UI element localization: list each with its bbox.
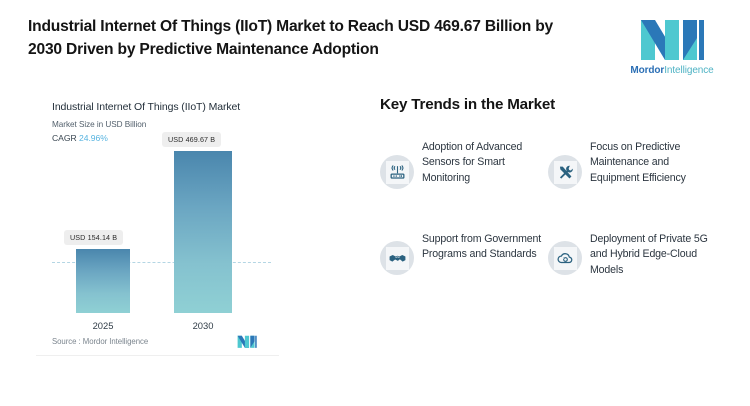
x-axis-tick-2030: 2030 xyxy=(174,320,232,331)
market-size-chart-card: Industrial Internet Of Things (IIoT) Mar… xyxy=(36,88,279,356)
key-trends-grid: Adoption of Advanced Sensors for Smart M… xyxy=(380,139,730,278)
cloud-sync-icon xyxy=(554,247,577,270)
trend-icon-badge xyxy=(548,155,582,189)
handshake-icon xyxy=(386,247,409,270)
brand-logo-text: MordorIntelligence xyxy=(630,65,713,76)
cagr-label: CAGR xyxy=(52,133,77,143)
bar-value-label-2030: USD 469.67 B xyxy=(162,132,221,147)
trend-item-sensors: Adoption of Advanced Sensors for Smart M… xyxy=(380,139,548,231)
wireless-sensor-icon xyxy=(386,161,409,184)
mordor-intelligence-mark-icon xyxy=(639,18,705,60)
key-trends-title: Key Trends in the Market xyxy=(380,96,730,113)
cagr-value: 24.96% xyxy=(79,133,108,143)
bar-chart-plot: USD 154.14 B USD 469.67 B 2025 2030 xyxy=(52,149,265,329)
trend-text: Deployment of Private 5G and Hybrid Edge… xyxy=(590,231,720,278)
trend-icon-badge xyxy=(548,241,582,275)
chart-title: Industrial Internet Of Things (IIoT) Mar… xyxy=(52,100,265,114)
trend-item-predictive-maintenance: Focus on Predictive Maintenance and Equi… xyxy=(548,139,720,231)
trend-icon-badge xyxy=(380,155,414,189)
chart-footer: Source : Mordor Intelligence xyxy=(52,335,257,348)
bar-2025 xyxy=(76,249,130,313)
trend-text: Focus on Predictive Maintenance and Equi… xyxy=(590,139,720,186)
infographic-page: Industrial Internet Of Things (IIoT) Mar… xyxy=(0,0,750,406)
brand-word-intelligence: Intelligence xyxy=(664,65,713,76)
chart-source-label: Source : Mordor Intelligence xyxy=(52,337,148,346)
trend-item-private-5g-cloud: Deployment of Private 5G and Hybrid Edge… xyxy=(548,231,720,278)
mordor-intelligence-mini-mark-icon xyxy=(237,335,257,348)
bar-value-label-2025: USD 154.14 B xyxy=(64,230,123,245)
brand-word-mordor: Mordor xyxy=(630,65,664,76)
page-title: Industrial Internet Of Things (IIoT) Mar… xyxy=(28,16,588,61)
brand-logo: MordorIntelligence xyxy=(620,16,724,76)
bar-2030 xyxy=(174,151,232,313)
trend-text: Adoption of Advanced Sensors for Smart M… xyxy=(422,139,548,186)
chart-subtitle: Market Size in USD Billion xyxy=(52,120,265,129)
trend-icon-badge xyxy=(380,241,414,275)
key-trends-section: Key Trends in the Market xyxy=(380,96,730,278)
tools-wrench-screwdriver-icon xyxy=(554,161,577,184)
x-axis-tick-2025: 2025 xyxy=(76,320,130,331)
trend-item-government-support: Support from Government Programs and Sta… xyxy=(380,231,548,278)
chart-cagr: CAGR 24.96% xyxy=(52,133,265,143)
page-header: Industrial Internet Of Things (IIoT) Mar… xyxy=(0,0,750,86)
trend-text: Support from Government Programs and Sta… xyxy=(422,231,548,263)
